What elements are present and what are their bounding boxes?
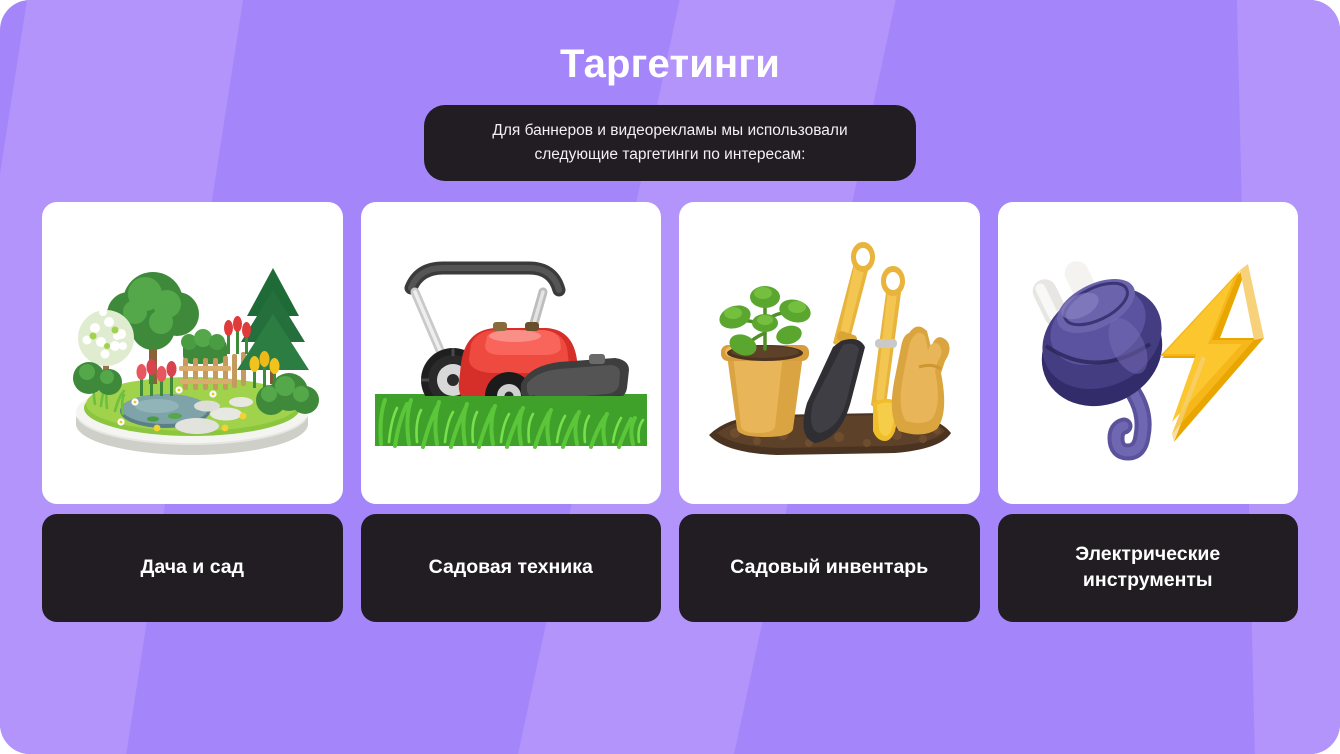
page-title: Таргетинги [560, 42, 780, 86]
card-label: Садовая техника [361, 514, 662, 622]
targeting-card-list: Дача и сад [42, 202, 1298, 622]
garden-landscape-3d-icon [57, 246, 327, 461]
targeting-card[interactable]: Дача и сад [42, 202, 343, 622]
card-label: Электрические инструменты [998, 514, 1299, 622]
card-label-text: Садовый инвентарь [730, 555, 928, 581]
plug-lightning-bolt-3d-icon [1010, 242, 1286, 464]
subtitle-text: Для баннеров и видеорекламы мы использов… [450, 119, 890, 166]
card-image-garden-tools [679, 202, 980, 504]
targeting-card[interactable]: Садовая техника [361, 202, 662, 622]
card-label-text: Садовая техника [429, 555, 593, 581]
targeting-card[interactable]: Электрические инструменты [998, 202, 1299, 622]
slide-root: Таргетинги Для баннеров и видеорекламы м… [0, 0, 1340, 754]
targeting-card: Садовый инвентарь [679, 202, 980, 622]
garden-tools-icon [691, 237, 967, 469]
card-label-text: Электрические инструменты [1016, 542, 1281, 594]
card-label-text: Дача и сад [140, 555, 244, 581]
card-label: Дача и сад [42, 514, 343, 622]
card-image-plug-lightning [998, 202, 1299, 504]
card-image-garden-landscape [42, 202, 343, 504]
card-label: Садовый инвентарь [679, 514, 980, 622]
subtitle-pill: Для баннеров и видеорекламы мы использов… [424, 105, 916, 181]
card-image-lawn-mower [361, 202, 662, 504]
lawn-mower-icon [375, 244, 647, 462]
